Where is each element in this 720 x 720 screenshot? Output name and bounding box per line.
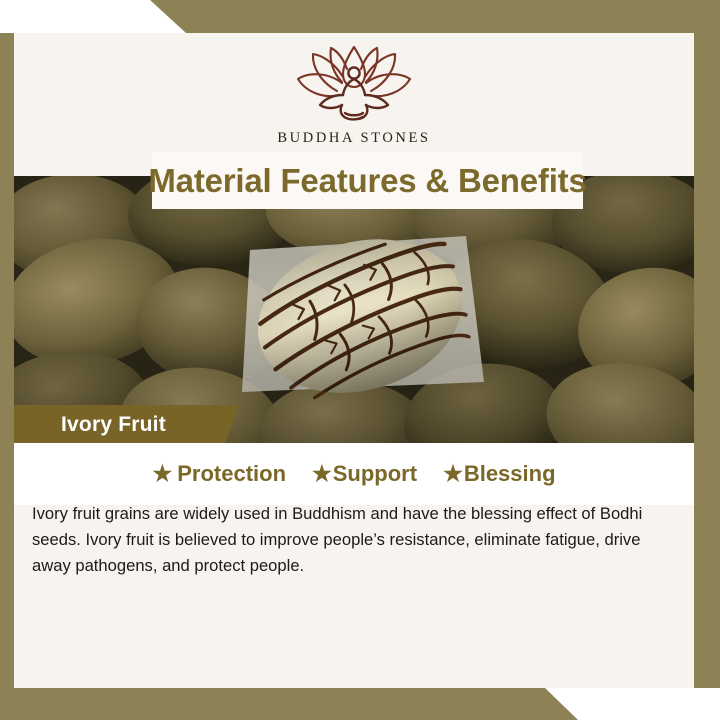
star-icon: ★ bbox=[443, 463, 463, 485]
ivory-fruit-photo: Ivory Fruit bbox=[14, 176, 694, 443]
brand-name: BUDDHA STONES bbox=[277, 130, 430, 147]
description-text: Ivory fruit grains are widely used in Bu… bbox=[32, 501, 676, 579]
top-gold-band bbox=[0, 0, 720, 33]
lotus-meditation-icon bbox=[279, 43, 429, 128]
star-icon: ★ bbox=[152, 463, 172, 485]
feature-label: Blessing bbox=[464, 461, 556, 487]
fruit-name-label: Ivory Fruit bbox=[14, 405, 239, 443]
right-gold-band bbox=[694, 0, 720, 688]
poster-inner-page: BUDDHA STONES bbox=[14, 33, 694, 688]
bottom-gold-band bbox=[0, 688, 720, 720]
feature-label: Support bbox=[333, 461, 417, 487]
page-title-banner: Material Features & Benefits bbox=[152, 152, 583, 209]
star-icon: ★ bbox=[312, 463, 332, 485]
page-title: Material Features & Benefits bbox=[148, 162, 586, 200]
description-block: Ivory fruit grains are widely used in Bu… bbox=[14, 501, 694, 579]
material-features-poster: BUDDHA STONES bbox=[0, 0, 720, 720]
feature-item-blessing: ★ Blessing bbox=[443, 461, 555, 487]
feature-list: ★ Protection ★ Support ★ Blessing bbox=[14, 443, 694, 505]
fruit-name-text: Ivory Fruit bbox=[61, 413, 166, 437]
brand-logo: BUDDHA STONES bbox=[14, 43, 694, 147]
left-gold-band bbox=[0, 33, 14, 688]
feature-item-support: ★ Support bbox=[312, 461, 417, 487]
feature-item-protection: ★ Protection bbox=[152, 461, 286, 487]
feature-label: Protection bbox=[177, 461, 286, 487]
